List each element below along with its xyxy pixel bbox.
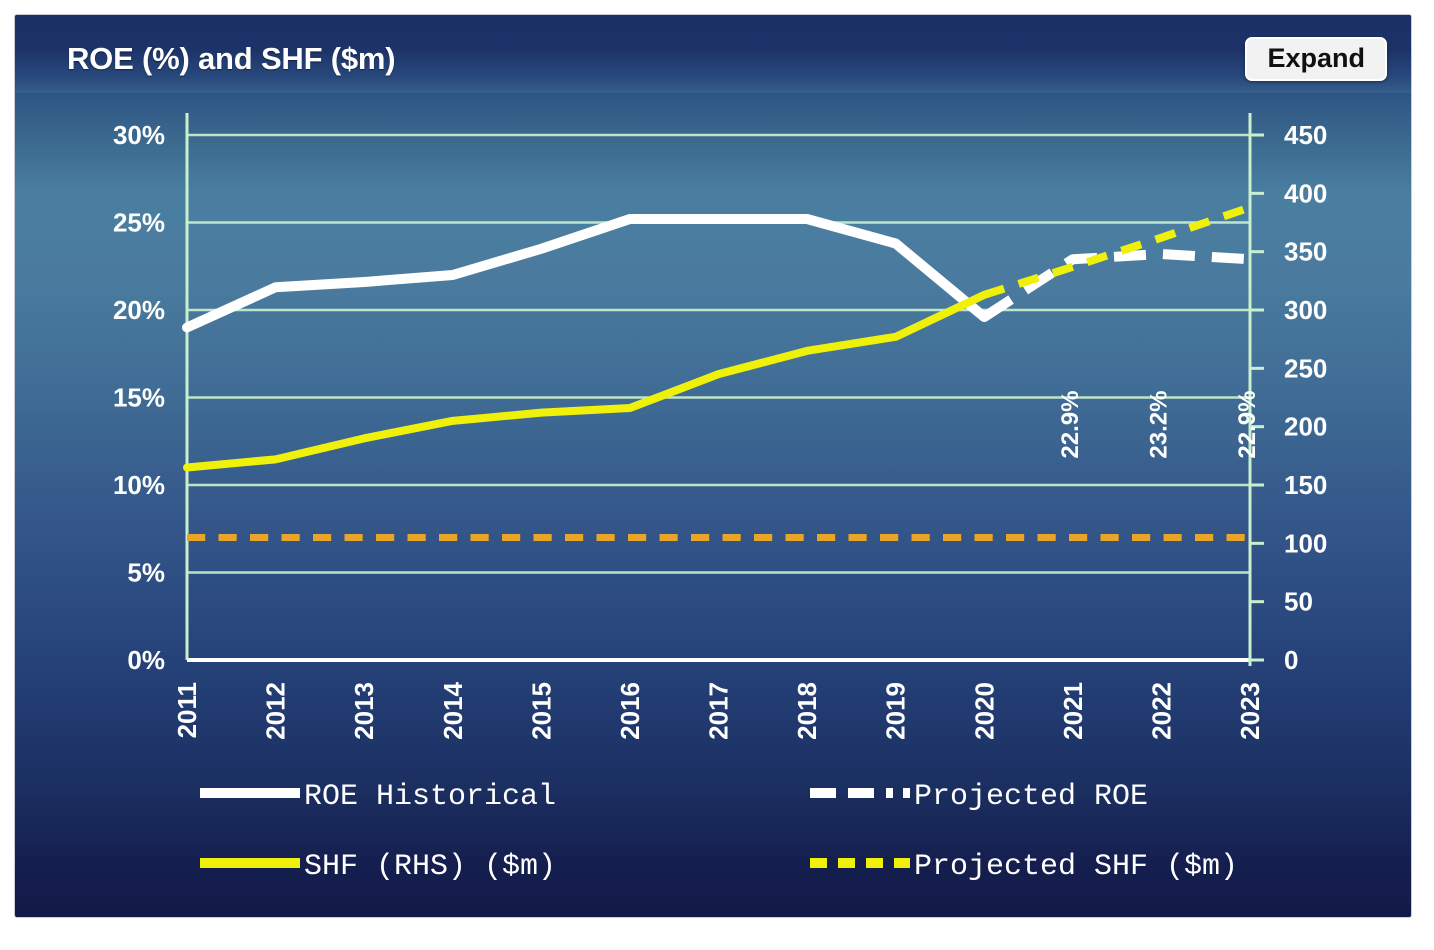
x-axis-tick: 2015 bbox=[526, 682, 556, 740]
y-axis-right-tick: 200 bbox=[1284, 412, 1327, 442]
x-axis-tick: 2012 bbox=[261, 682, 291, 740]
y-axis-left-tick: 10% bbox=[113, 470, 165, 500]
y-axis-left-tick: 25% bbox=[113, 208, 165, 238]
y-axis-right: 050100150200250300350400450 bbox=[1250, 113, 1327, 675]
plot-container: 0%5%10%15%20%25%30% 05010015020025030035… bbox=[15, 93, 1411, 917]
series-line bbox=[984, 207, 1250, 294]
series-line bbox=[187, 295, 984, 468]
y-axis-right-tick: 50 bbox=[1284, 587, 1313, 617]
y-axis-right-tick: 350 bbox=[1284, 237, 1327, 267]
chart-header: ROE (%) and SHF ($m) Expand bbox=[15, 15, 1411, 93]
data-point-label: 23.2% bbox=[1145, 391, 1172, 459]
x-axis-tick: 2016 bbox=[615, 682, 645, 740]
y-axis-left: 0%5%10%15%20%25%30% bbox=[113, 113, 187, 675]
data-labels: 22.9%23.2%22.9% bbox=[1057, 391, 1261, 459]
x-axis-tick: 2011 bbox=[172, 682, 202, 738]
y-axis-left-tick: 20% bbox=[113, 295, 165, 325]
x-axis-tick: 2022 bbox=[1146, 682, 1176, 740]
legend-label[interactable]: SHF (RHS) ($m) bbox=[304, 850, 556, 884]
legend-label[interactable]: ROE Historical bbox=[304, 780, 556, 814]
data-point-label: 22.9% bbox=[1057, 391, 1084, 459]
legend-label[interactable]: Projected ROE bbox=[914, 780, 1148, 814]
y-axis-right-tick: 300 bbox=[1284, 295, 1327, 325]
x-axis-tick: 2019 bbox=[881, 682, 911, 740]
chart-panel: ROE (%) and SHF ($m) Expand 0%5%10%15%20… bbox=[14, 14, 1412, 918]
gridlines bbox=[187, 135, 1250, 660]
y-axis-right-tick: 150 bbox=[1284, 470, 1327, 500]
y-axis-right-tick: 400 bbox=[1284, 178, 1327, 208]
x-axis: 2011201220132014201520162017201820192020… bbox=[172, 681, 1265, 739]
expand-button[interactable]: Expand bbox=[1245, 37, 1387, 81]
y-axis-right-tick: 450 bbox=[1284, 120, 1327, 150]
data-series bbox=[187, 207, 1250, 537]
x-axis-tick: 2013 bbox=[349, 682, 379, 740]
roe-shf-line-chart: 0%5%10%15%20%25%30% 05010015020025030035… bbox=[15, 93, 1411, 917]
x-axis-tick: 2014 bbox=[438, 681, 468, 739]
x-axis-tick: 2017 bbox=[704, 682, 734, 740]
y-axis-left-tick: 15% bbox=[113, 383, 165, 413]
x-axis-tick: 2020 bbox=[969, 682, 999, 740]
x-axis-tick: 2018 bbox=[792, 682, 822, 740]
y-axis-left-tick: 30% bbox=[113, 120, 165, 150]
y-axis-left-tick: 0% bbox=[127, 645, 165, 675]
chart-legend: ROE HistoricalProjected ROESHF (RHS) ($m… bbox=[200, 780, 1238, 884]
y-axis-right-tick: 100 bbox=[1284, 528, 1327, 558]
page-title: ROE (%) and SHF ($m) bbox=[67, 41, 395, 77]
legend-label[interactable]: Projected SHF ($m) bbox=[914, 850, 1238, 884]
y-axis-left-tick: 5% bbox=[127, 558, 165, 588]
y-axis-right-tick: 250 bbox=[1284, 353, 1327, 383]
x-axis-tick: 2021 bbox=[1058, 682, 1088, 740]
data-point-label: 22.9% bbox=[1234, 391, 1261, 459]
y-axis-right-tick: 0 bbox=[1284, 645, 1298, 675]
x-axis-tick: 2023 bbox=[1235, 682, 1265, 740]
